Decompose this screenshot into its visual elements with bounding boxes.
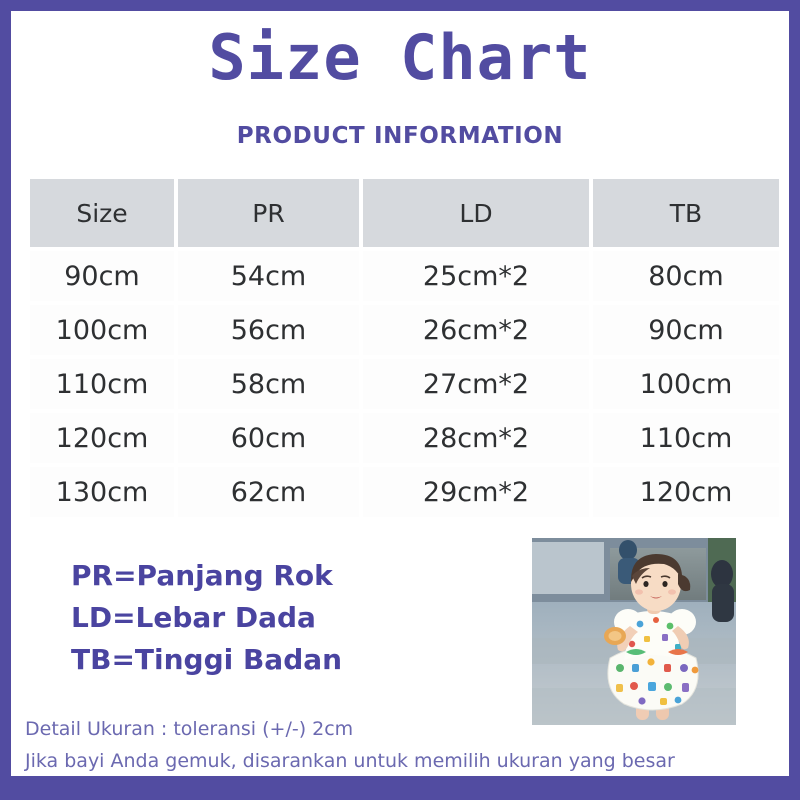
cell-size: 120cm xyxy=(30,413,174,463)
cell-pr: 56cm xyxy=(178,305,359,355)
table-header-row: Size PR LD TB xyxy=(30,179,779,247)
page-subtitle: PRODUCT INFORMATION xyxy=(11,123,789,149)
cell-size: 110cm xyxy=(30,359,174,409)
footer-notes: Detail Ukuran : toleransi (+/-) 2cm Jika… xyxy=(25,713,675,776)
cell-ld: 25cm*2 xyxy=(363,251,589,301)
legend-line-tb: TB=Tinggi Badan xyxy=(71,639,342,681)
product-photo xyxy=(532,538,736,725)
note-tolerance: Detail Ukuran : toleransi (+/-) 2cm xyxy=(25,713,675,745)
cell-size: 100cm xyxy=(30,305,174,355)
size-chart-page: Size Chart PRODUCT INFORMATION Size PR L… xyxy=(0,0,800,800)
note-size-advice: Jika bayi Anda gemuk, disarankan untuk m… xyxy=(25,745,675,776)
table-row: 90cm 54cm 25cm*2 80cm xyxy=(30,251,779,301)
size-table-body: 90cm 54cm 25cm*2 80cm 100cm 56cm 26cm*2 … xyxy=(30,251,779,517)
cell-tb: 90cm xyxy=(593,305,779,355)
cell-tb: 80cm xyxy=(593,251,779,301)
cell-size: 130cm xyxy=(30,467,174,517)
cell-pr: 58cm xyxy=(178,359,359,409)
chart-canvas: Size Chart PRODUCT INFORMATION Size PR L… xyxy=(11,11,789,776)
column-header-size: Size xyxy=(30,179,174,247)
cell-size: 90cm xyxy=(30,251,174,301)
table-row: 110cm 58cm 27cm*2 100cm xyxy=(30,359,779,409)
cell-tb: 110cm xyxy=(593,413,779,463)
size-table-head: Size PR LD TB xyxy=(30,179,779,247)
cell-ld: 27cm*2 xyxy=(363,359,589,409)
column-header-ld: LD xyxy=(363,179,589,247)
column-header-pr: PR xyxy=(178,179,359,247)
legend-line-ld: LD=Lebar Dada xyxy=(71,597,342,639)
cell-tb: 120cm xyxy=(593,467,779,517)
legend-line-pr: PR=Panjang Rok xyxy=(71,555,342,597)
table-row: 120cm 60cm 28cm*2 110cm xyxy=(30,413,779,463)
page-title: Size Chart xyxy=(11,27,789,89)
cell-pr: 62cm xyxy=(178,467,359,517)
table-row: 130cm 62cm 29cm*2 120cm xyxy=(30,467,779,517)
table-row: 100cm 56cm 26cm*2 90cm xyxy=(30,305,779,355)
cell-ld: 28cm*2 xyxy=(363,413,589,463)
cell-ld: 29cm*2 xyxy=(363,467,589,517)
column-header-tb: TB xyxy=(593,179,779,247)
size-table: Size PR LD TB 90cm 54cm 25cm*2 80cm 100c… xyxy=(26,175,783,521)
product-photo-illustration xyxy=(532,538,736,725)
abbreviation-legend: PR=Panjang Rok LD=Lebar Dada TB=Tinggi B… xyxy=(71,555,342,681)
cell-ld: 26cm*2 xyxy=(363,305,589,355)
cell-pr: 60cm xyxy=(178,413,359,463)
cell-pr: 54cm xyxy=(178,251,359,301)
cell-tb: 100cm xyxy=(593,359,779,409)
